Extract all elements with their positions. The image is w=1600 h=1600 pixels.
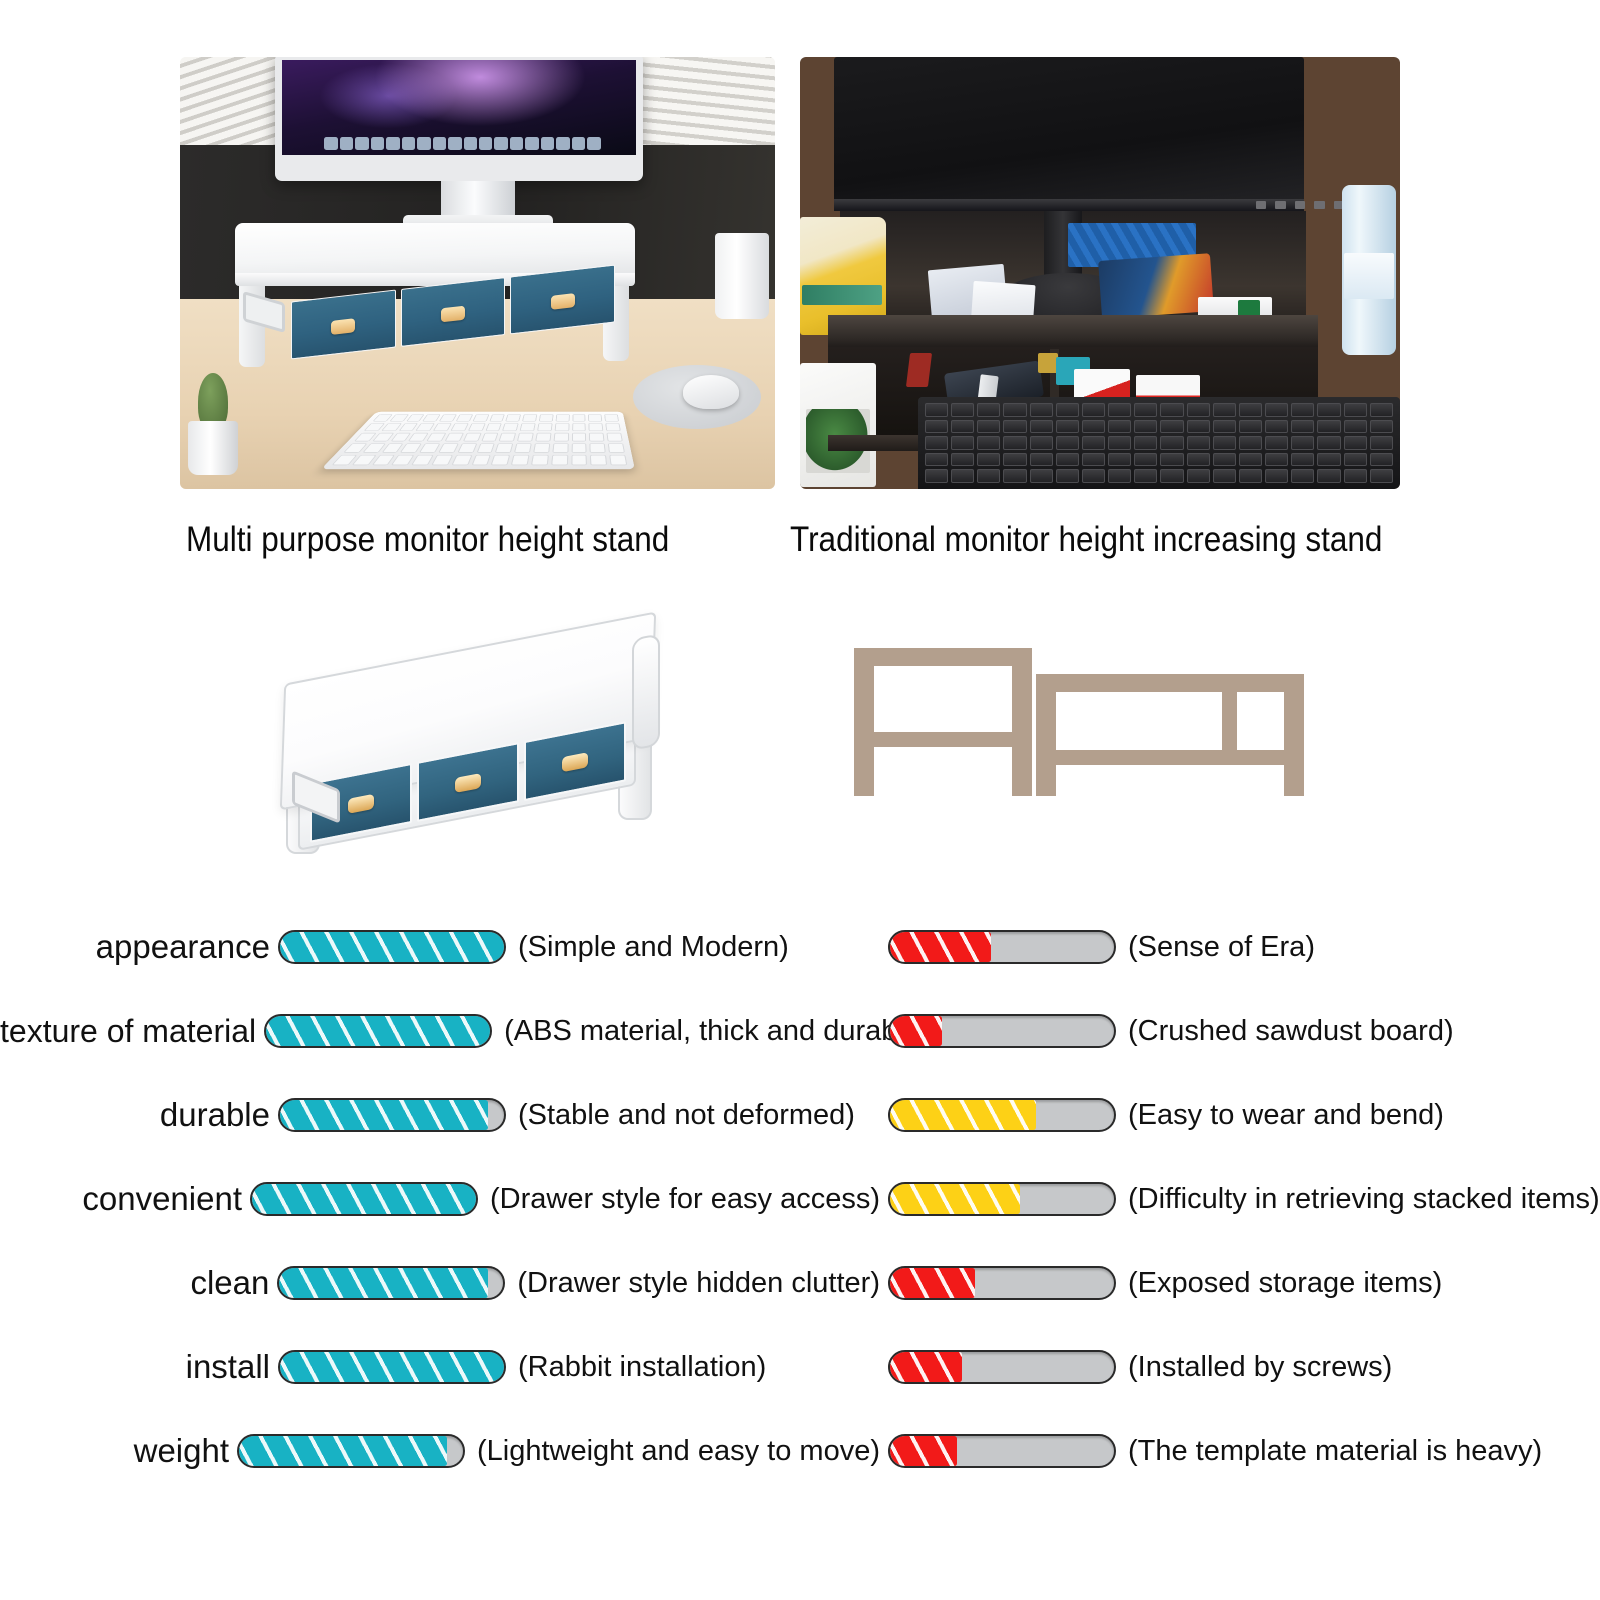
- attribute-note-traditional: (Sense of Era): [1116, 931, 1315, 964]
- attribute-row: install (Rabbit installation) (Installed…: [0, 1325, 1600, 1409]
- frame-leg: [1284, 674, 1304, 796]
- tissue-pack-label: [802, 285, 882, 305]
- drawer: [291, 290, 396, 360]
- potted-plant: [182, 365, 244, 475]
- rating-bar-traditional: [888, 930, 1116, 964]
- cluttered-desk-photo: [800, 57, 1400, 489]
- attribute-row: durable (Stable and not deformed) (Easy …: [0, 1073, 1600, 1157]
- rating-bar-fill: [890, 1100, 1036, 1130]
- traditional-frame-large: [1036, 674, 1304, 796]
- drawer-knob-icon: [441, 306, 465, 323]
- rating-bar-traditional: [888, 1266, 1116, 1300]
- frame-top-board: [1036, 674, 1304, 692]
- rating-bar-fill: [279, 1268, 487, 1298]
- attribute-row: weight (Lightweight and easy to move) (T…: [0, 1409, 1600, 1493]
- metal-clutter: [1038, 353, 1058, 373]
- imac-monitor: [275, 57, 643, 181]
- clean-desk-photo: [180, 57, 775, 489]
- rating-bar-product: [264, 1014, 492, 1048]
- rating-bar-fill: [239, 1436, 447, 1466]
- drawer-knob-icon: [331, 318, 355, 335]
- rating-bar-fill: [280, 1100, 488, 1130]
- macos-dock: [324, 135, 600, 150]
- rating-bar-product: [237, 1434, 465, 1468]
- drawer-knob-icon: [551, 293, 575, 310]
- attribute-note-product: (Drawer style for easy access): [478, 1183, 880, 1216]
- attribute-note-product: (Stable and not deformed): [506, 1099, 855, 1132]
- white-mouse: [683, 375, 739, 409]
- attribute-label: durable: [0, 1096, 278, 1134]
- frame-top-board: [854, 648, 1032, 666]
- rating-bar-product: [278, 1098, 506, 1132]
- attribute-label: convenient: [0, 1180, 250, 1218]
- frame-leg: [1012, 648, 1032, 796]
- attribute-note-traditional: (Easy to wear and bend): [1116, 1099, 1444, 1132]
- red-tag: [906, 353, 932, 387]
- frame-leg: [854, 648, 874, 796]
- attribute-label: clean: [0, 1264, 277, 1302]
- rating-bar-product: [278, 930, 506, 964]
- attribute-note-product: (Simple and Modern): [506, 931, 789, 964]
- frame-shelf-board: [854, 732, 1032, 747]
- traditional-frame-small: [854, 648, 1032, 796]
- rating-bar-fill: [890, 932, 991, 962]
- monitor-screen-wallpaper: [282, 60, 636, 155]
- rating-bar-traditional: [888, 1350, 1116, 1384]
- attribute-note-traditional: (Installed by screws): [1116, 1351, 1392, 1384]
- drawer: [510, 265, 615, 335]
- photo-captions: Multi purpose monitor height stand Tradi…: [0, 508, 1600, 572]
- attribute-label: appearance: [0, 928, 278, 966]
- rating-bar-fill: [890, 1016, 942, 1046]
- drawer-knob-icon: [348, 794, 374, 814]
- rating-bar-traditional: [888, 1098, 1116, 1132]
- caption-multi-purpose-stand: Multi purpose monitor height stand: [186, 508, 669, 572]
- white-drawer-stand: [235, 223, 635, 373]
- frame-leg: [1036, 674, 1056, 796]
- attribute-row: texture of material (ABS material, thick…: [0, 989, 1600, 1073]
- frame-divider: [1222, 690, 1237, 752]
- bottle-label: [1344, 253, 1394, 299]
- vip-card-packet: [1098, 253, 1214, 319]
- rating-bar-fill: [266, 1016, 490, 1046]
- rating-bar-product: [278, 1350, 506, 1384]
- black-keyboard: [918, 397, 1400, 489]
- traditional-shelf-illustration: [848, 642, 1318, 842]
- attribute-note-product: (ABS material, thick and durable): [492, 1015, 930, 1048]
- rating-bar-product: [250, 1182, 478, 1216]
- illustration-side-rail: [632, 633, 660, 750]
- drawer-knob-icon: [562, 752, 588, 772]
- monitor-bezel: [834, 199, 1304, 211]
- rating-bar-traditional: [888, 1434, 1116, 1468]
- rating-bar-fill: [890, 1184, 1020, 1214]
- attribute-label: install: [0, 1348, 278, 1386]
- rating-bar-traditional: [888, 1014, 1116, 1048]
- attribute-label: texture of material: [0, 1013, 264, 1050]
- monitor-buttons: [1256, 201, 1344, 209]
- rating-bar-fill: [252, 1184, 476, 1214]
- attribute-note-traditional: (Difficulty in retrieving stacked items): [1116, 1183, 1600, 1216]
- attribute-note-traditional: (Crushed sawdust board): [1116, 1015, 1454, 1048]
- black-monitor: [834, 57, 1304, 205]
- white-drawer-stand-illustration: [268, 628, 668, 893]
- drawer: [401, 277, 506, 347]
- product-illustration-row: [0, 600, 1600, 900]
- rating-bar-product: [277, 1266, 505, 1300]
- attribute-row: clean (Drawer style hidden clutter) (Exp…: [0, 1241, 1600, 1325]
- rating-bar-fill: [890, 1436, 957, 1466]
- rating-bar-traditional: [888, 1182, 1116, 1216]
- plant-pot: [188, 421, 238, 475]
- rating-bar-fill: [280, 932, 504, 962]
- rating-bar-fill: [280, 1352, 504, 1382]
- white-keyboard: [321, 412, 635, 469]
- rating-bar-fill: [890, 1268, 975, 1298]
- attribute-label: weight: [0, 1432, 237, 1470]
- product-comparison-infographic: Multi purpose monitor height stand Tradi…: [0, 0, 1600, 1600]
- attribute-row: appearance (Simple and Modern) (Sense of…: [0, 905, 1600, 989]
- attribute-note-product: (Lightweight and easy to move): [465, 1435, 880, 1468]
- attribute-note-traditional: (Exposed storage items): [1116, 1267, 1442, 1300]
- frame-shelf-board: [1036, 750, 1304, 765]
- photo-comparison-row: [0, 0, 1600, 500]
- attribute-note-traditional: (The template material is heavy): [1116, 1435, 1542, 1468]
- attribute-note-product: (Drawer style hidden clutter): [505, 1267, 880, 1300]
- shelf-top-board: [828, 315, 1318, 347]
- drawer-knob-icon: [455, 773, 481, 793]
- attribute-comparison-table: appearance (Simple and Modern) (Sense of…: [0, 905, 1600, 1493]
- attribute-note-product: (Rabbit installation): [506, 1351, 766, 1384]
- caption-traditional-stand: Traditional monitor height increasing st…: [790, 508, 1382, 572]
- attribute-row: convenient (Drawer style for easy access…: [0, 1157, 1600, 1241]
- rating-bar-fill: [890, 1352, 962, 1382]
- pen-cup: [715, 233, 769, 319]
